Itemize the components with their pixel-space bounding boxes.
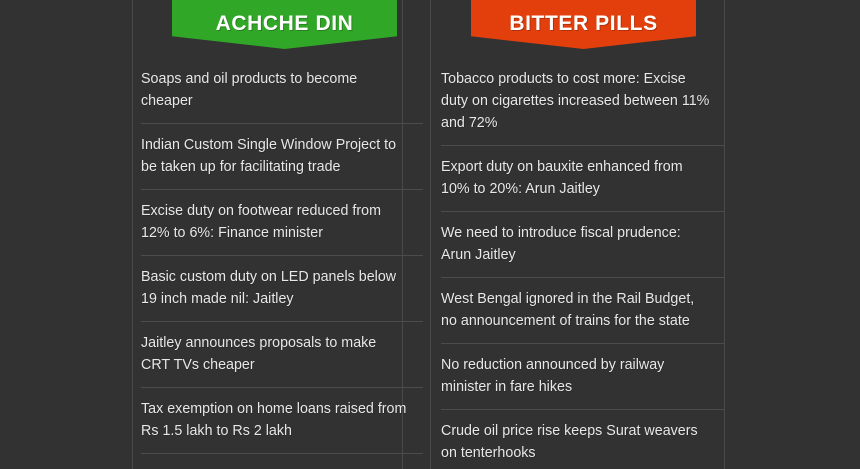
list-item[interactable]: Indian Custom Single Window Project to b… bbox=[141, 124, 423, 190]
column-achche-din: Soaps and oil products to become cheaper… bbox=[141, 60, 423, 454]
list-item[interactable]: Basic custom duty on LED panels below 19… bbox=[141, 256, 423, 322]
banner-bitter-pills-label: BITTER PILLS bbox=[509, 12, 657, 36]
list-item[interactable]: We need to introduce fiscal prudence: Ar… bbox=[441, 212, 724, 278]
banner-achche-din-label: ACHCHE DIN bbox=[216, 12, 354, 36]
list-item[interactable]: Export duty on bauxite enhanced from 10%… bbox=[441, 146, 724, 212]
column-rule-far-left bbox=[132, 0, 133, 469]
column-rule-mid-right bbox=[430, 0, 431, 469]
column-bitter-pills: Tobacco products to cost more: Excise du… bbox=[441, 60, 724, 469]
banner-bitter-pills: BITTER PILLS bbox=[471, 0, 696, 49]
list-item[interactable]: No reduction announced by railway minist… bbox=[441, 344, 724, 410]
list-item[interactable]: West Bengal ignored in the Rail Budget, … bbox=[441, 278, 724, 344]
list-item[interactable]: Tobacco products to cost more: Excise du… bbox=[441, 60, 724, 146]
budget-highlights-panel: ACHCHE DIN BITTER PILLS Soaps and oil pr… bbox=[0, 0, 860, 469]
list-item[interactable]: Tax exemption on home loans raised from … bbox=[141, 388, 423, 454]
list-item[interactable]: Excise duty on footwear reduced from 12%… bbox=[141, 190, 423, 256]
banner-achche-din: ACHCHE DIN bbox=[172, 0, 397, 49]
column-rule-far-right bbox=[724, 0, 725, 469]
list-item[interactable]: Jaitley announces proposals to make CRT … bbox=[141, 322, 423, 388]
list-item[interactable]: Crude oil price rise keeps Surat weavers… bbox=[441, 410, 724, 469]
list-item[interactable]: Soaps and oil products to become cheaper bbox=[141, 60, 423, 124]
